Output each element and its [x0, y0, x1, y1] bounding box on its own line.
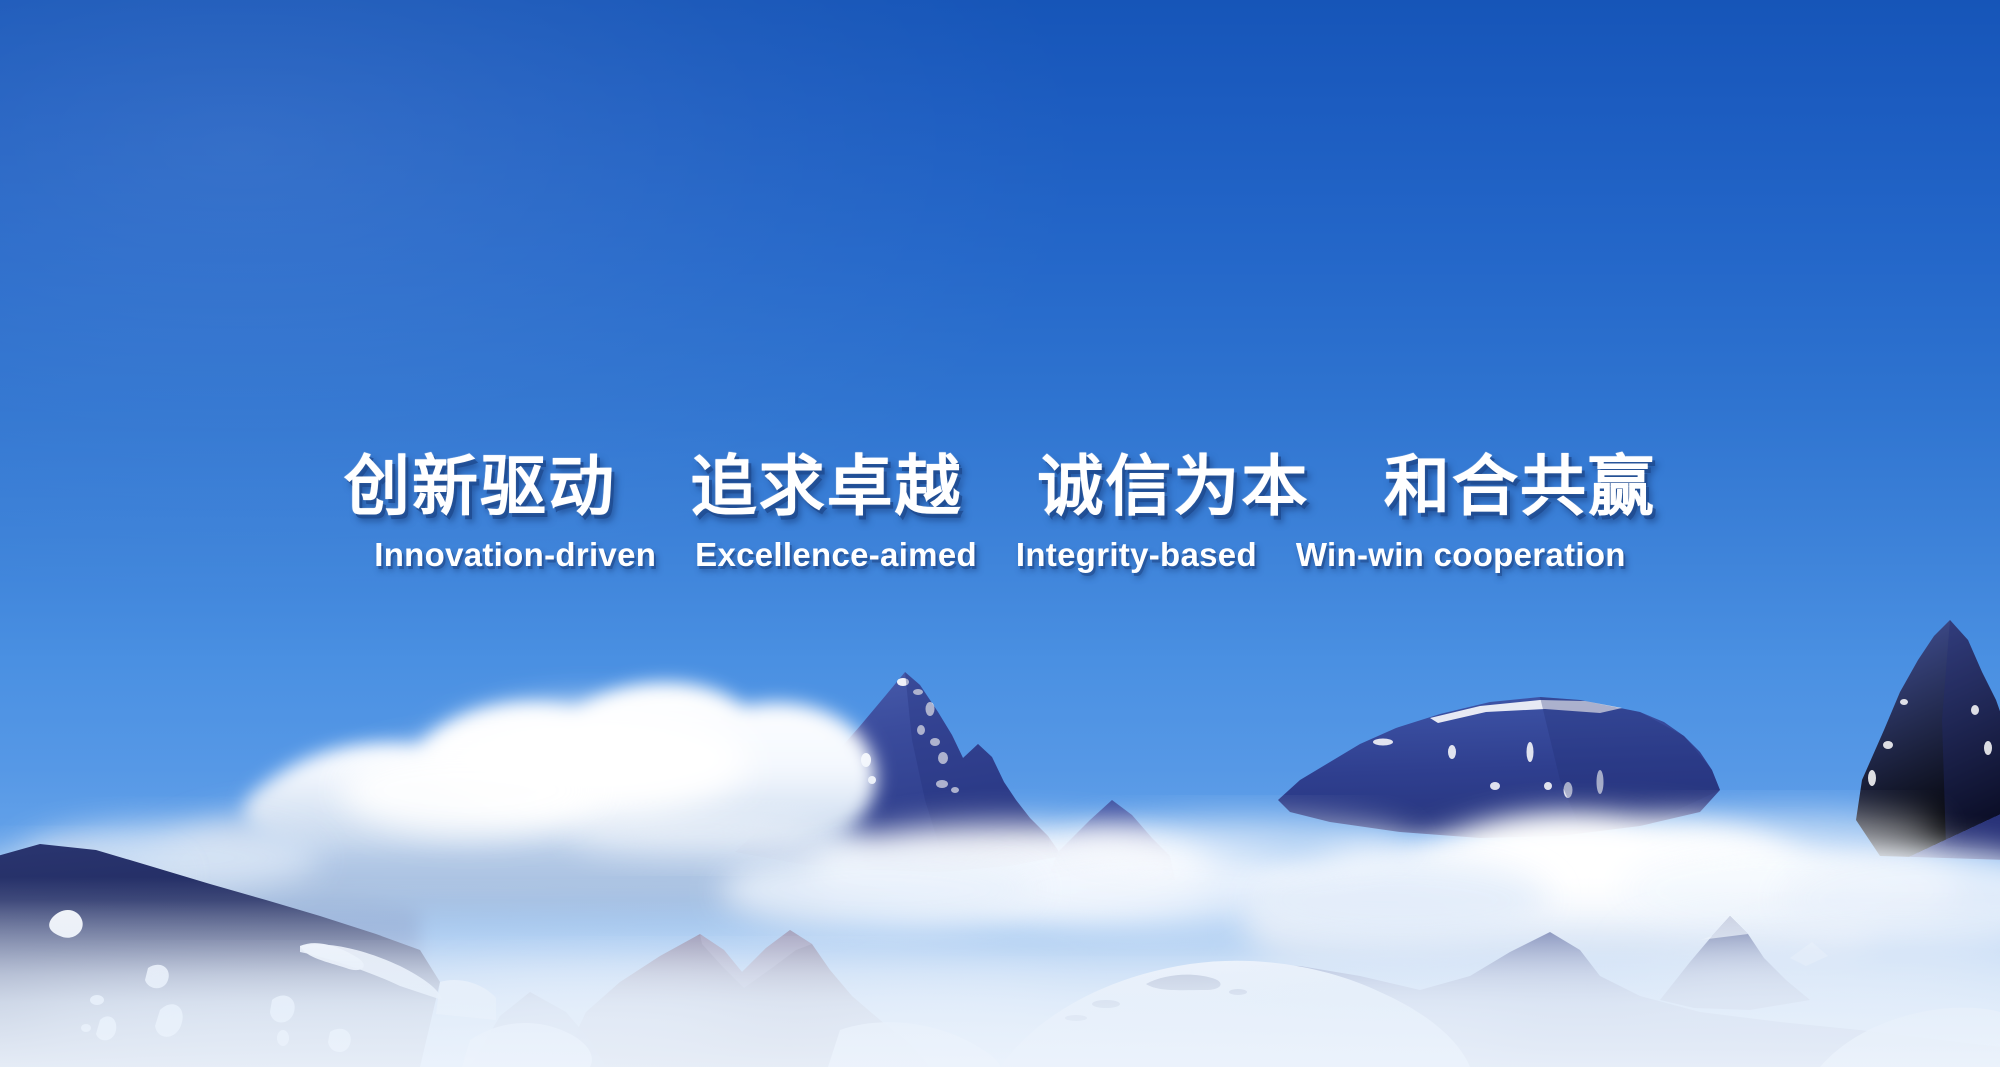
hero-banner: 创新驱动 追求卓越 诚信为本 和合共赢 Innovation-driven Ex… [0, 0, 2000, 1067]
mountain-scenery [0, 0, 2000, 1067]
scenery-svg [0, 0, 2000, 1067]
right-mountain-ridge [1278, 697, 1720, 838]
bottom-mist-band [0, 900, 2000, 1067]
